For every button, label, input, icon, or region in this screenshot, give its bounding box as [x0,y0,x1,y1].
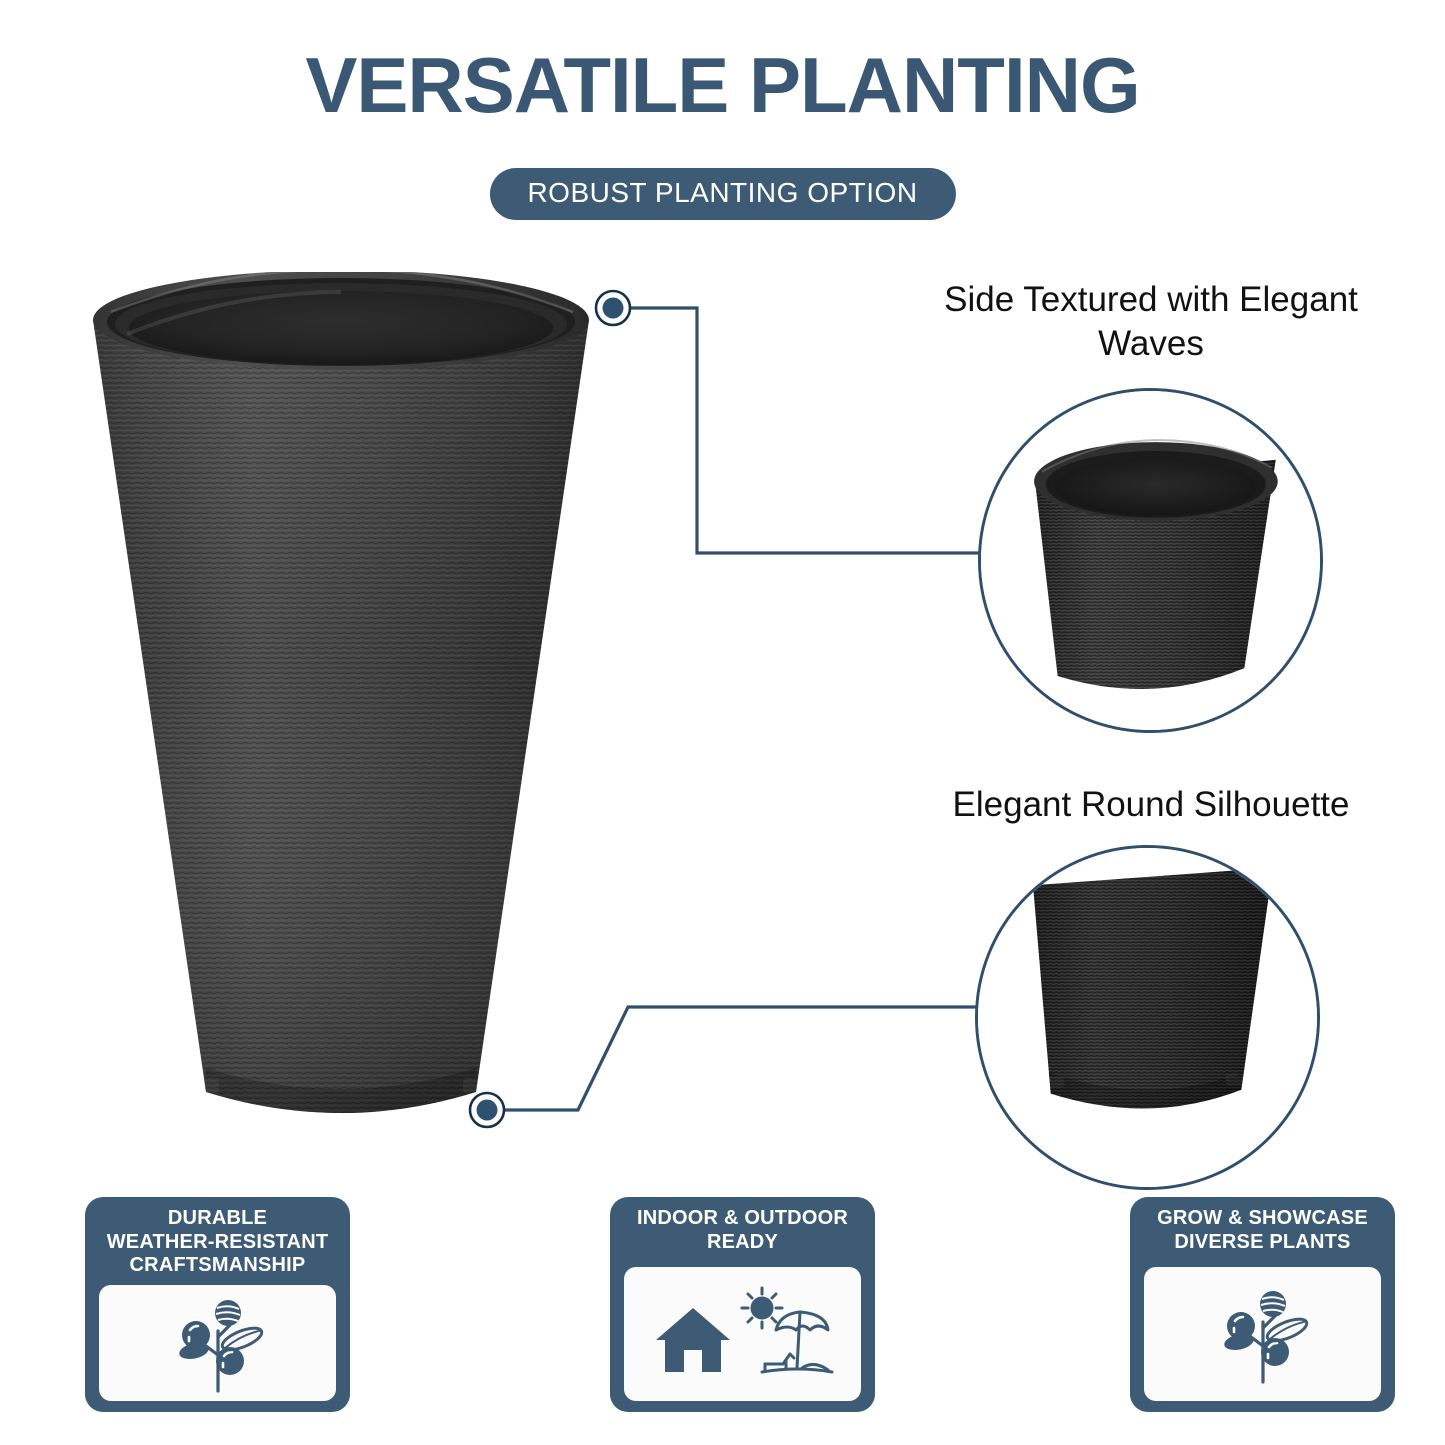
feature-badge-icon-panel [1144,1267,1381,1401]
berry-plant-sprig-icon [172,1291,264,1395]
sun-icon [742,1288,782,1328]
feature-badge-title: INDOOR & OUTDOOR READY [610,1197,875,1254]
house-sun-beach-icon [650,1284,836,1384]
feature-badge-title: GROW & SHOWCASE DIVERSE PLANTS [1130,1197,1395,1254]
house-icon [656,1308,730,1372]
callout-label-round-silhouette: Elegant Round Silhouette [906,783,1396,827]
berry-plant-sprig-icon [1217,1282,1309,1386]
feature-badge-title: DURABLE WEATHER-RESISTANT CRAFTSMANSHIP [85,1197,350,1278]
beach-umbrella-icon [762,1312,832,1372]
feature-badge-durability[interactable]: DURABLE WEATHER-RESISTANT CRAFTSMANSHIP [85,1197,350,1412]
subtitle-pill-badge: ROBUST PLANTING OPTION [489,168,955,220]
infographic-canvas: VERSATILE PLANTING ROBUST PLANTING OPTIO… [0,0,1445,1445]
feature-badge-row: DURABLE WEATHER-RESISTANT CRAFTSMANSHIP [0,1197,1445,1422]
feature-badge-placement[interactable]: INDOOR & OUTDOOR READY [610,1197,875,1412]
page-title: VERSATILE PLANTING [0,46,1445,124]
feature-badge-icon-panel [99,1285,336,1401]
callout-label-side-texture: Side Textured with Elegant Waves [906,278,1396,366]
detail-zoom-circle-round-silhouette [975,845,1320,1190]
feature-badge-icon-panel [624,1267,861,1401]
feature-badge-versatility[interactable]: GROW & SHOWCASE DIVERSE PLANTS [1130,1197,1395,1412]
detail-zoom-circle-side-texture [978,388,1323,733]
product-planter-image [63,272,619,1152]
